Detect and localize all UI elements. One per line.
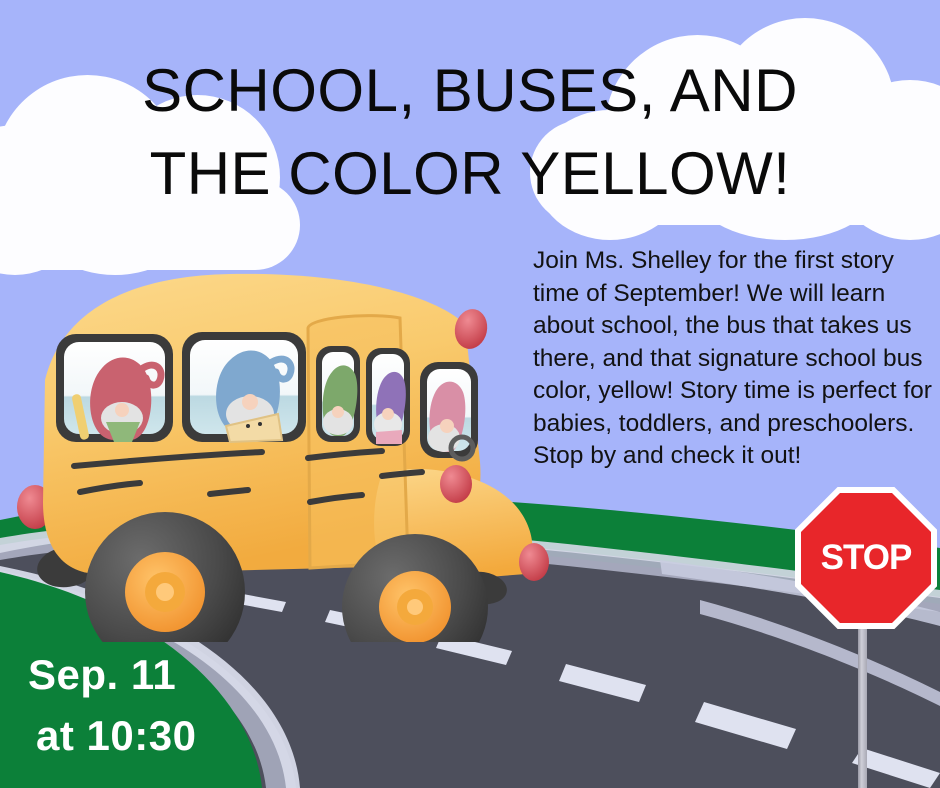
title-line-2: THE COLOR YELLOW! <box>0 133 940 216</box>
event-date: Sep. 11 <box>28 645 278 706</box>
bus-hood-light <box>440 465 472 503</box>
event-time: at 10:30 <box>28 706 278 767</box>
school-bus-illustration <box>10 262 555 642</box>
stop-sign-label: STOP <box>821 538 912 578</box>
bus-front-light <box>519 543 549 581</box>
stop-sign-border: STOP <box>795 487 937 629</box>
page-title: SCHOOL, BUSES, AND THE COLOR YELLOW! <box>0 50 940 216</box>
stop-sign: STOP <box>795 487 937 629</box>
stop-sign-face: STOP <box>801 493 931 623</box>
title-line-1: SCHOOL, BUSES, AND <box>0 50 940 133</box>
event-date-time: Sep. 11 at 10:30 <box>28 645 278 767</box>
poster-canvas: 1 2 3 A+ I ♥ SCHOOL 2+2 = ? SCHOOL, BUSE… <box>0 0 940 788</box>
event-description: Join Ms. Shelley for the first story tim… <box>533 245 933 473</box>
